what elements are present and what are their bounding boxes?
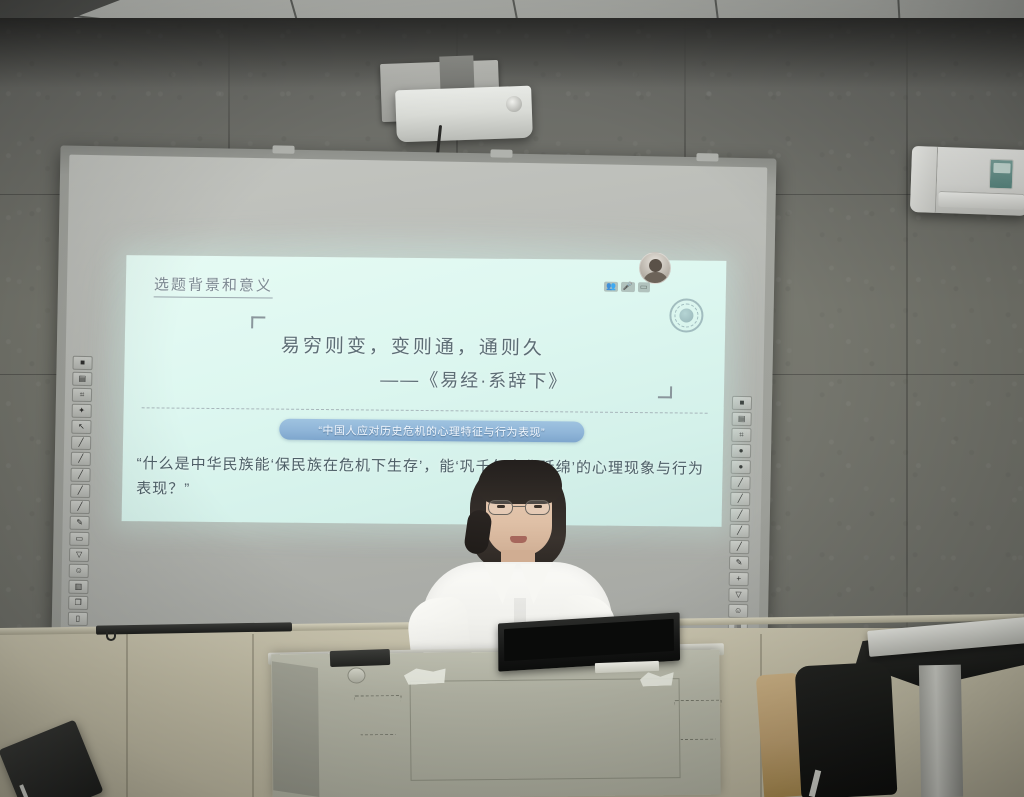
- corner-bracket-icon: [658, 386, 672, 398]
- pen-icon[interactable]: ╱: [70, 484, 90, 498]
- participants-icon[interactable]: 👥: [604, 282, 618, 292]
- pen-icon[interactable]: ╱: [730, 476, 750, 490]
- file-icon[interactable]: ▯: [68, 612, 88, 626]
- pen-icon[interactable]: ╱: [70, 500, 90, 514]
- mic-icon[interactable]: 🎤: [621, 282, 635, 292]
- person-icon[interactable]: ☺: [728, 604, 748, 618]
- pen-icon[interactable]: ╱: [71, 436, 91, 450]
- ac-lcd-icon: [993, 163, 1010, 174]
- monitor-screen[interactable]: [504, 619, 674, 661]
- screen-icon[interactable]: ▭: [638, 282, 650, 292]
- pen-icon[interactable]: ╱: [70, 468, 90, 482]
- lectern-knob[interactable]: [347, 667, 365, 683]
- wall-shadow: [0, 18, 1024, 88]
- pen-icon[interactable]: ╱: [730, 492, 750, 506]
- slide-quote-attribution: ——《易经·系辞下》: [380, 366, 568, 394]
- pen-icon[interactable]: ╱: [730, 508, 750, 522]
- projector-body: [395, 86, 533, 143]
- seal-core: [679, 308, 693, 322]
- board-icon[interactable]: ⌗: [731, 428, 751, 442]
- lectern: [271, 650, 720, 797]
- pen-icon[interactable]: ╱: [71, 452, 91, 466]
- classroom-scene: ■▤⌗✦↖╱╱╱╱╱✎▭▽☺▥❐▯≡ ■▤⌗●●╱╱╱╱╱✎+▽☺▥❐▯≡ 选题…: [0, 0, 1024, 797]
- plus-icon[interactable]: +: [729, 572, 749, 586]
- dot-icon[interactable]: ●: [731, 444, 751, 458]
- slide-quote-block: 易穷则变，变则通，通则久 ——《易经·系辞下》: [244, 314, 676, 408]
- video-call-status-icons[interactable]: 👥🎤▭: [604, 282, 650, 293]
- page-icon[interactable]: ▤: [72, 372, 92, 386]
- ac-display-panel[interactable]: [989, 159, 1014, 190]
- board-icon[interactable]: ⌗: [72, 388, 92, 402]
- avatar-head: [649, 259, 662, 272]
- copy-icon[interactable]: ❐: [68, 596, 88, 610]
- ac-louver: [938, 191, 1024, 210]
- slide-quote-line1: 易穷则变，变则通，通则久: [281, 331, 546, 361]
- brush-icon[interactable]: ✎: [70, 516, 90, 530]
- dot-icon[interactable]: ●: [731, 460, 751, 474]
- page-icon[interactable]: ▤: [732, 412, 752, 426]
- corner-bracket-icon: [251, 316, 265, 328]
- presenter-eye: [497, 505, 505, 508]
- board-clip: [490, 149, 512, 157]
- spotlight-icon[interactable]: ▽: [69, 548, 89, 562]
- tray-hook-icon: [106, 630, 116, 641]
- ac-end-cap: [910, 146, 938, 213]
- lectern-side-shelf: [272, 661, 319, 797]
- video-call-avatar[interactable]: [639, 252, 672, 285]
- board-clip: [696, 153, 718, 161]
- slide-divider: [142, 407, 708, 413]
- pen-icon[interactable]: ╱: [729, 540, 749, 554]
- lectern-device-block: [330, 649, 391, 667]
- eraser-icon[interactable]: ▭: [69, 532, 89, 546]
- slide-highlight-pill: “中国人应对历史危机的心理特征与行为表现”: [279, 419, 584, 443]
- presenter-mouth: [510, 536, 527, 543]
- lectern-basket-icon: [354, 695, 402, 736]
- presenter-eye: [534, 505, 542, 508]
- air-conditioner: [910, 146, 1024, 216]
- stop-icon[interactable]: ■: [732, 396, 752, 410]
- lectern-basket-icon: [674, 700, 722, 741]
- slide-title: 选题背景和意义: [154, 273, 273, 298]
- black-office-chair[interactable]: [795, 662, 898, 797]
- board-clip: [272, 145, 294, 153]
- presenter-hair-front: [478, 460, 562, 504]
- spotlight-icon[interactable]: ▽: [728, 588, 748, 602]
- pen-icon[interactable]: ╱: [729, 524, 749, 538]
- stop-icon[interactable]: ■: [72, 356, 92, 370]
- brush-icon[interactable]: ✎: [729, 556, 749, 570]
- person-icon[interactable]: ☺: [69, 564, 89, 578]
- star-icon[interactable]: ✦: [72, 404, 92, 418]
- lectern-front-panel: [410, 678, 681, 781]
- side-desk-leg: [919, 665, 963, 797]
- book-icon[interactable]: ▥: [68, 580, 88, 594]
- cursor-icon[interactable]: ↖: [71, 420, 91, 434]
